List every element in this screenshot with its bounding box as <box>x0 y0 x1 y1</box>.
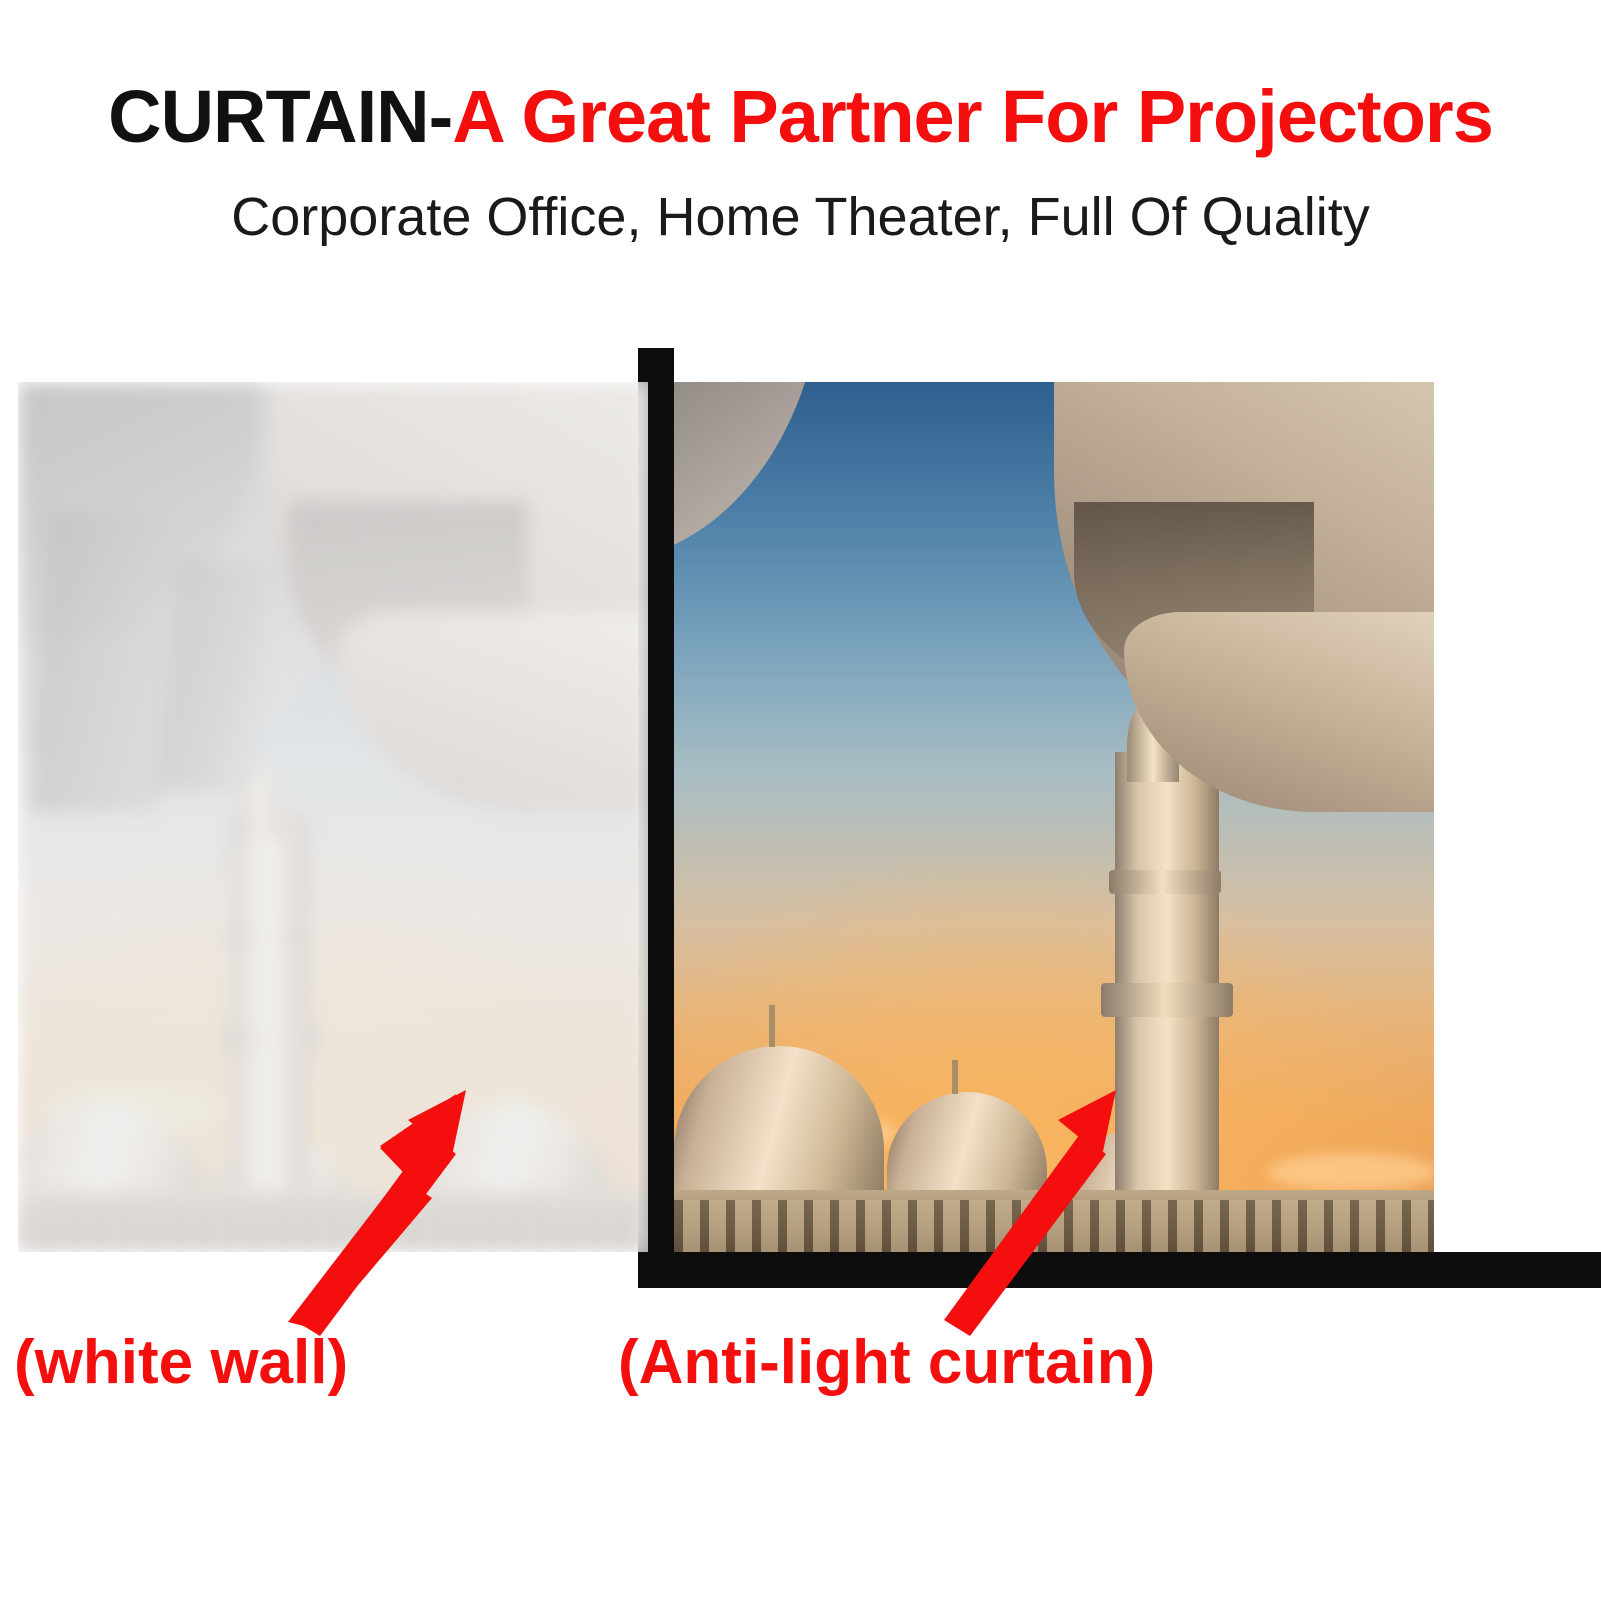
caption-anti-light-curtain: (Anti-light curtain) <box>618 1332 1155 1394</box>
page-subtitle: Corporate Office, Home Theater, Full Of … <box>0 190 1601 244</box>
right-arrow-icon <box>930 1090 1150 1330</box>
comparison-stage <box>0 330 1601 1601</box>
dome-finial <box>769 1005 775 1047</box>
left-arrow-icon <box>280 1090 500 1330</box>
minaret-balcony <box>1101 983 1233 1017</box>
cloud <box>1267 1153 1434 1191</box>
caption-white-wall: (white wall) <box>14 1332 348 1394</box>
page-title: CURTAIN-A Great Partner For Projectors <box>0 80 1601 154</box>
dome-finial <box>952 1060 958 1094</box>
header: CURTAIN-A Great Partner For Projectors C… <box>0 0 1601 330</box>
minaret-balcony-upper <box>1109 870 1221 894</box>
page-title-black: CURTAIN- <box>108 75 452 158</box>
page-title-red: A Great Partner For Projectors <box>452 75 1493 158</box>
